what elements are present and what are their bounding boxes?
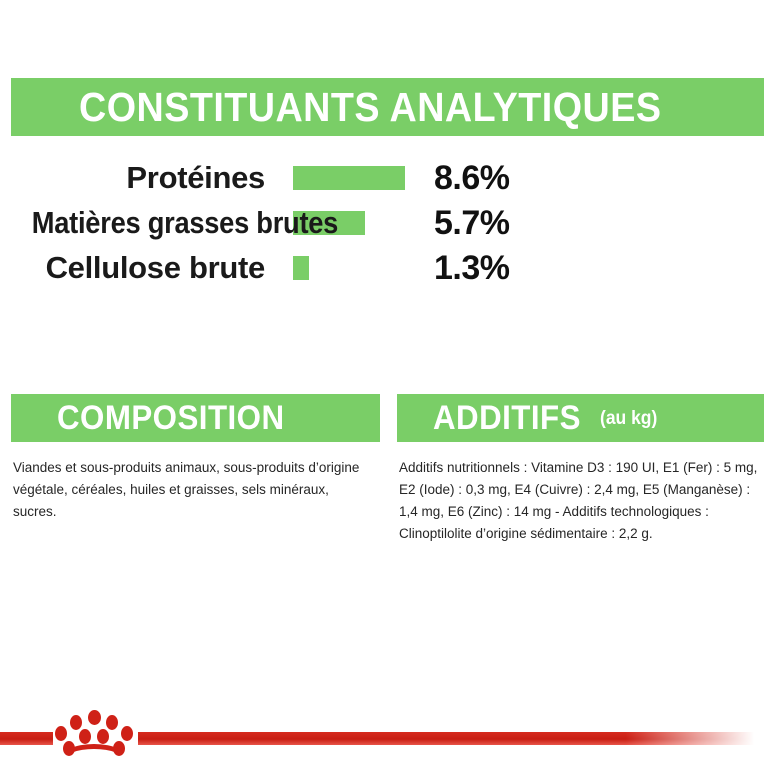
section-subtitle-additives-unit: (au kg) xyxy=(600,409,657,428)
section-title-analytical-constituents: CONSTITUANTS ANALYTIQUES xyxy=(79,87,661,128)
crown-arc xyxy=(58,744,130,778)
crown-icon xyxy=(52,710,136,772)
nutrient-label-proteins: Protéines xyxy=(0,162,265,193)
nutrient-row: Cellulose brute 1.3% xyxy=(0,245,780,290)
nutrient-value-crude-fat: 5.7% xyxy=(434,206,510,240)
section-title-additives: ADDITIFS xyxy=(433,401,581,435)
section-header-composition: COMPOSITION xyxy=(11,394,380,442)
section-title-composition: COMPOSITION xyxy=(57,401,285,435)
nutrient-value-crude-fibre: 1.3% xyxy=(434,251,510,285)
nutrient-row: Matières grasses brutes 5.7% xyxy=(0,200,780,245)
nutrient-label-crude-fat: Matières grasses brutes xyxy=(32,207,265,238)
nutrient-bar-track xyxy=(293,256,428,280)
composition-body-text: Viandes et sous-produits animaux, sous-p… xyxy=(13,457,370,523)
nutrient-row: Protéines 8.6% xyxy=(0,155,780,200)
nutrient-bar-crude-fibre xyxy=(293,256,309,280)
nutrient-label-crude-fibre: Cellulose brute xyxy=(0,252,265,283)
nutrient-bar-track xyxy=(293,166,428,190)
analytical-constituents-chart: Protéines 8.6% Matières grasses brutes 5… xyxy=(0,155,780,290)
footer-rule-right xyxy=(138,732,780,745)
footer-rule-left xyxy=(0,732,53,745)
nutrient-value-proteins: 8.6% xyxy=(434,161,510,195)
footer-brand-mark xyxy=(0,700,780,780)
section-header-additives: ADDITIFS (au kg) xyxy=(397,394,764,442)
additives-body-text: Additifs nutritionnels : Vitamine D3 : 1… xyxy=(399,457,762,544)
nutrient-bar-proteins xyxy=(293,166,405,190)
section-header-analytical-constituents: CONSTITUANTS ANALYTIQUES xyxy=(11,78,764,136)
